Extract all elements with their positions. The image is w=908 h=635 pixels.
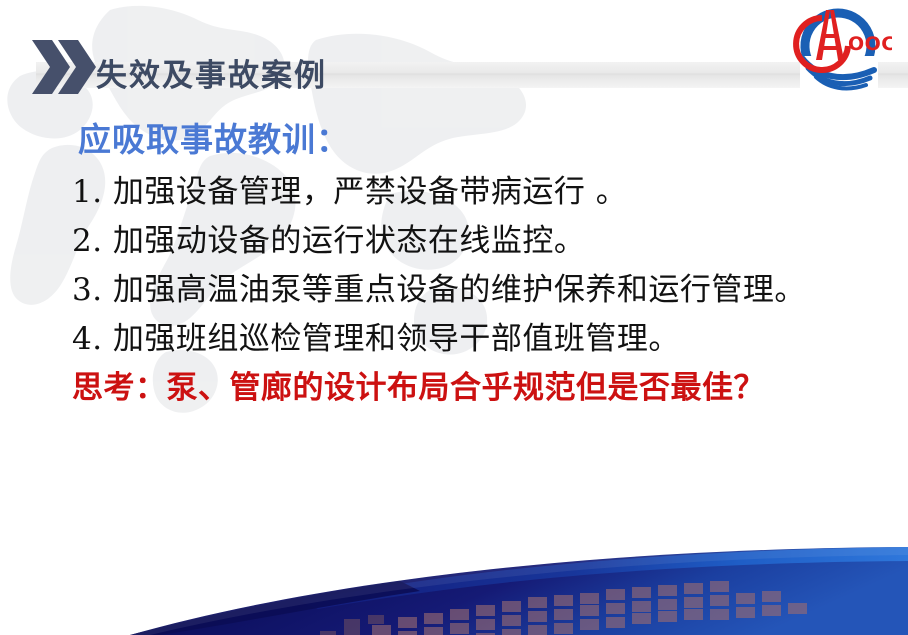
cnooc-logo: OOC bbox=[786, 4, 892, 96]
footer-decoration bbox=[0, 525, 908, 635]
slide-body: 应吸取事故教训： 1. 加强设备管理，严禁设备带病运行 。 2. 加强动设备的运… bbox=[0, 118, 908, 411]
list-item: 1. 加强设备管理，严禁设备带病运行 。 bbox=[0, 169, 908, 216]
section-heading: 应吸取事故教训： bbox=[78, 118, 908, 163]
slide-canvas: 失效及事故案例 OOC 应吸取事故教训： 1. 加强设备管理，严禁设备带病运行 bbox=[0, 0, 908, 635]
discussion-question: 思考：泵、管廊的设计布局合乎规范但是否最佳？ bbox=[0, 365, 908, 412]
lessons-list: 1. 加强设备管理，严禁设备带病运行 。 2. 加强动设备的运行状态在线监控。 … bbox=[0, 169, 908, 363]
page-title: 失效及事故案例 bbox=[96, 50, 327, 95]
list-item: 4. 加强班组巡检管理和领导干部值班管理。 bbox=[0, 316, 908, 363]
list-item: 2. 加强动设备的运行状态在线监控。 bbox=[0, 218, 908, 265]
list-item: 3. 加强高温油泵等重点设备的维护保养和运行管理。 bbox=[0, 267, 908, 314]
slide-header: 失效及事故案例 OOC bbox=[0, 0, 908, 112]
logo-text: OOC bbox=[848, 33, 892, 55]
double-chevron-right-icon bbox=[30, 36, 96, 98]
